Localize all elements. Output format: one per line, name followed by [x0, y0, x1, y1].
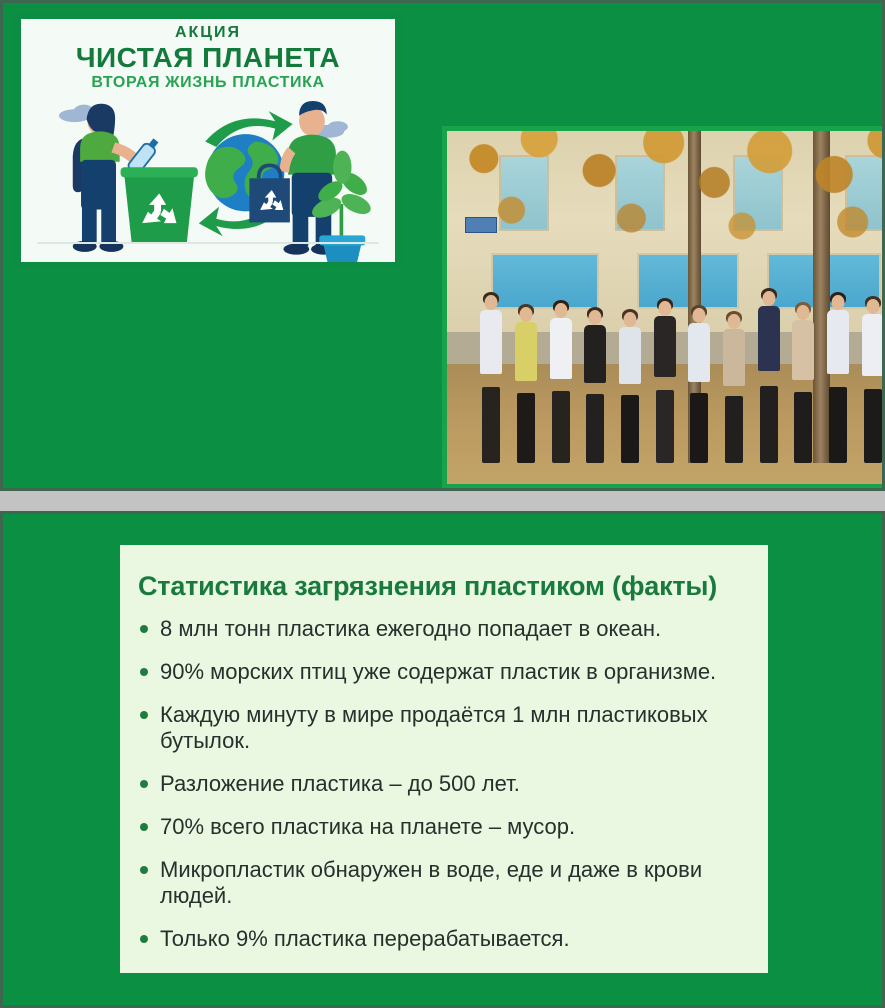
photo-canvas: [447, 131, 885, 484]
bullet-icon: [140, 780, 148, 788]
slide-1[interactable]: АКЦИЯ ЧИСТАЯ ПЛАНЕТА ВТОРАЯ ЖИЗНЬ ПЛАСТИ…: [0, 0, 885, 491]
slide-deck: АКЦИЯ ЧИСТАЯ ПЛАНЕТА ВТОРАЯ ЖИЗНЬ ПЛАСТИ…: [0, 0, 885, 1008]
fact-text: 70% всего пластика на планете – мусор.: [160, 814, 575, 839]
poster-heading: АКЦИЯ ЧИСТАЯ ПЛАНЕТА ВТОРАЯ ЖИЗНЬ ПЛАСТИ…: [21, 25, 395, 91]
list-item: Только 9% пластика перерабатывается.: [128, 926, 744, 952]
person: [683, 308, 717, 462]
person: [752, 291, 786, 463]
photo-student-group: [475, 272, 885, 463]
person: [475, 295, 509, 463]
person: [717, 314, 751, 463]
list-item: Микропластик обнаружен в воде, еде и даж…: [128, 857, 744, 909]
person: [856, 299, 885, 463]
poster-heading-line1: АКЦИЯ: [21, 25, 395, 41]
poster-ground-line: [37, 242, 379, 244]
fact-text: Только 9% пластика перерабатывается.: [160, 926, 570, 951]
poster-illustration-svg: [21, 101, 395, 262]
bullet-icon: [140, 935, 148, 943]
list-item: Разложение пластика – до 500 лет.: [128, 771, 744, 797]
person: [509, 307, 543, 463]
fact-text: Разложение пластика – до 500 лет.: [160, 771, 520, 796]
plastic-facts-card[interactable]: Статистика загрязнения пластиком (факты)…: [120, 545, 768, 973]
bullet-icon: [140, 866, 148, 874]
list-item: 8 млн тонн пластика ежегодно попадает в …: [128, 616, 744, 642]
bullet-icon: [140, 823, 148, 831]
poster-illustration: [21, 101, 395, 262]
fact-text: Микропластик обнаружен в воде, еде и даж…: [160, 857, 702, 908]
poster-heading-line3: ВТОРАЯ ЖИЗНЬ ПЛАСТИКА: [21, 75, 395, 91]
person: [613, 312, 647, 463]
recycling-bin-icon: [121, 167, 198, 242]
list-item: Каждую минуту в мире продаётся 1 млн пла…: [128, 702, 744, 754]
person: [579, 310, 613, 462]
fact-text: 8 млн тонн пластика ежегодно попадает в …: [160, 616, 661, 641]
person: [544, 303, 578, 463]
fact-text: Каждую минуту в мире продаётся 1 млн пла…: [160, 702, 708, 753]
facts-title: Статистика загрязнения пластиком (факты): [138, 571, 744, 602]
bullet-icon: [140, 668, 148, 676]
person: [648, 301, 682, 463]
person: [821, 295, 855, 463]
facts-list: 8 млн тонн пластика ежегодно попадает в …: [128, 616, 744, 952]
poster-inner: АКЦИЯ ЧИСТАЯ ПЛАНЕТА ВТОРАЯ ЖИЗНЬ ПЛАСТИ…: [21, 19, 395, 262]
slide-separator: [0, 491, 885, 511]
list-item: 90% морских птиц уже содержат пластик в …: [128, 659, 744, 685]
bullet-icon: [140, 711, 148, 719]
poster-heading-line2: ЧИСТАЯ ПЛАНЕТА: [21, 44, 395, 72]
fact-text: 90% морских птиц уже содержат пластик в …: [160, 659, 716, 684]
bullet-icon: [140, 625, 148, 633]
campaign-poster[interactable]: АКЦИЯ ЧИСТАЯ ПЛАНЕТА ВТОРАЯ ЖИЗНЬ ПЛАСТИ…: [14, 12, 402, 269]
school-group-photo[interactable]: [442, 126, 885, 489]
list-item: 70% всего пластика на планете – мусор.: [128, 814, 744, 840]
person: [787, 305, 821, 463]
slide-2[interactable]: Статистика загрязнения пластиком (факты)…: [0, 511, 885, 1008]
